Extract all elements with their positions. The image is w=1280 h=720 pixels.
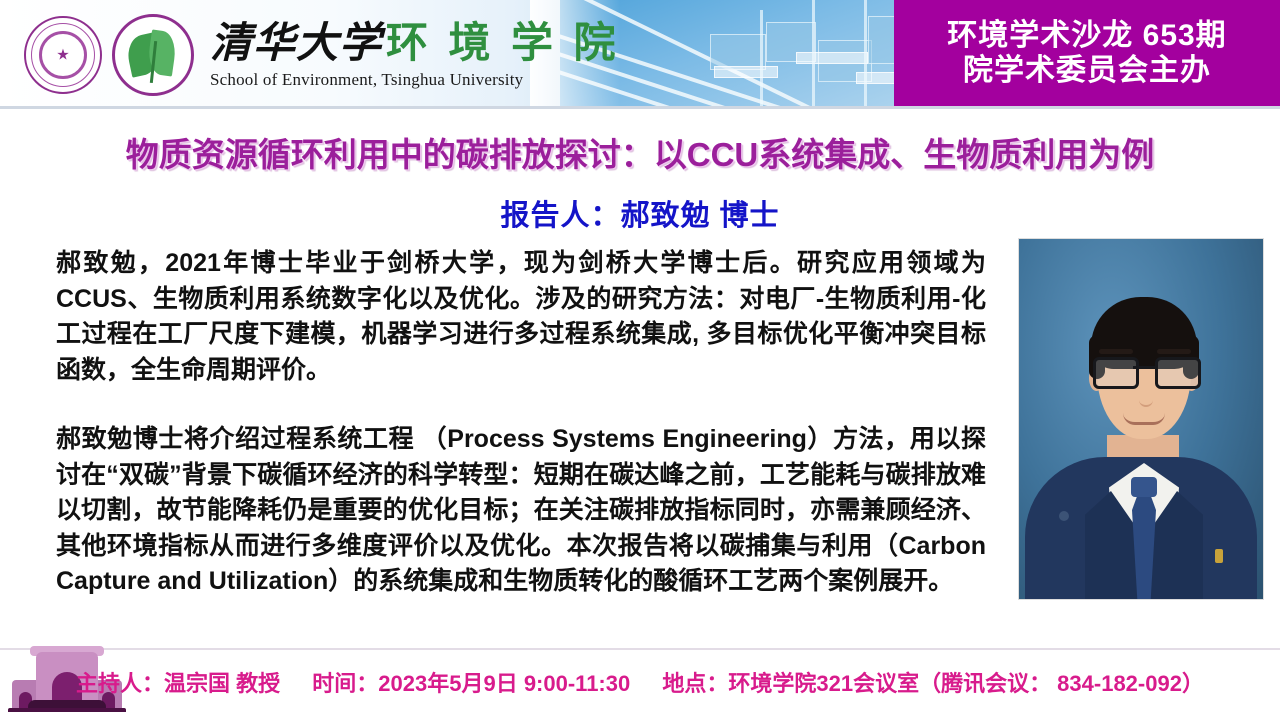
portrait-lapel-pin-left bbox=[1059, 511, 1069, 521]
glasses-bridge bbox=[1133, 366, 1155, 369]
logo-group: ★ 清华大学 环 境 学 院 School of Environment, Ts… bbox=[24, 14, 621, 96]
building-mullion bbox=[760, 10, 763, 106]
page-title: 物质资源循环利用中的碳排放探讨：以CCU系统集成、生物质利用为例 bbox=[0, 128, 1280, 176]
glasses-lens-right bbox=[1155, 357, 1201, 389]
speaker-portrait-photo bbox=[1018, 238, 1264, 600]
portrait-eyebrow-left bbox=[1099, 349, 1133, 354]
tsinghua-seal-icon: ★ bbox=[24, 16, 102, 94]
portrait-nose bbox=[1139, 387, 1153, 407]
speaker-line: 报告人：郝致勉 博士 bbox=[0, 192, 1280, 234]
header-divider bbox=[0, 106, 1280, 109]
bio-paragraph-1: 郝致勉，2021年博士毕业于剑桥大学，现为剑桥大学博士后。研究应用领域为CCUS… bbox=[56, 246, 986, 388]
portrait-eyebrow-right bbox=[1157, 349, 1191, 354]
portrait-lapel-pin-right bbox=[1215, 549, 1223, 563]
school-wordmark: 清华大学 环 境 学 院 School of Environment, Tsin… bbox=[210, 23, 621, 88]
environment-leaf-emblem-icon bbox=[112, 14, 194, 96]
building-slab bbox=[714, 66, 778, 78]
bio-paragraph-2: 郝致勉博士将介绍过程系统工程 （Process Systems Engineer… bbox=[56, 422, 986, 600]
event-details: 主持人：温宗国 教授 时间：2023年5月9日 9:00-11:30 地点：环境… bbox=[0, 666, 1280, 698]
header-banner: ★ 清华大学 环 境 学 院 School of Environment, Ts… bbox=[0, 0, 1280, 106]
portrait-tie-knot bbox=[1131, 477, 1157, 497]
seal-star-icon: ★ bbox=[56, 48, 69, 63]
building-mullion bbox=[864, 0, 867, 106]
building-window bbox=[710, 34, 766, 70]
speaker-bio: 郝致勉，2021年博士毕业于剑桥大学，现为剑桥大学博士后。研究应用领域为CCUS… bbox=[56, 246, 986, 600]
wordmark-university-cn: 清华大学 bbox=[210, 23, 382, 65]
poster-slide: ★ 清华大学 环 境 学 院 School of Environment, Ts… bbox=[0, 0, 1280, 720]
portrait-mouth bbox=[1123, 413, 1165, 425]
building-mullion bbox=[812, 0, 815, 106]
wordmark-school-en: School of Environment, Tsinghua Universi… bbox=[210, 71, 621, 88]
event-location: 地点：环境学院321会议室（腾讯会议： 834-182-092） bbox=[662, 671, 1204, 696]
portrait-glasses-icon bbox=[1093, 357, 1195, 383]
event-host: 主持人：温宗国 教授 bbox=[76, 671, 280, 696]
event-time: 时间：2023年5月9日 9:00-11:30 bbox=[312, 671, 630, 696]
salon-series-line2: 院学术委员会主办 bbox=[963, 54, 1211, 87]
salon-series-line1: 环境学术沙龙 653期 bbox=[947, 19, 1226, 52]
footer-corner-strip bbox=[0, 712, 126, 720]
glasses-lens-left bbox=[1093, 357, 1139, 389]
building-slab bbox=[796, 52, 868, 64]
footer-divider bbox=[0, 648, 1280, 650]
wordmark-school-cn: 环 境 学 院 bbox=[386, 23, 621, 65]
salon-series-banner: 环境学术沙龙 653期 院学术委员会主办 bbox=[894, 0, 1280, 106]
